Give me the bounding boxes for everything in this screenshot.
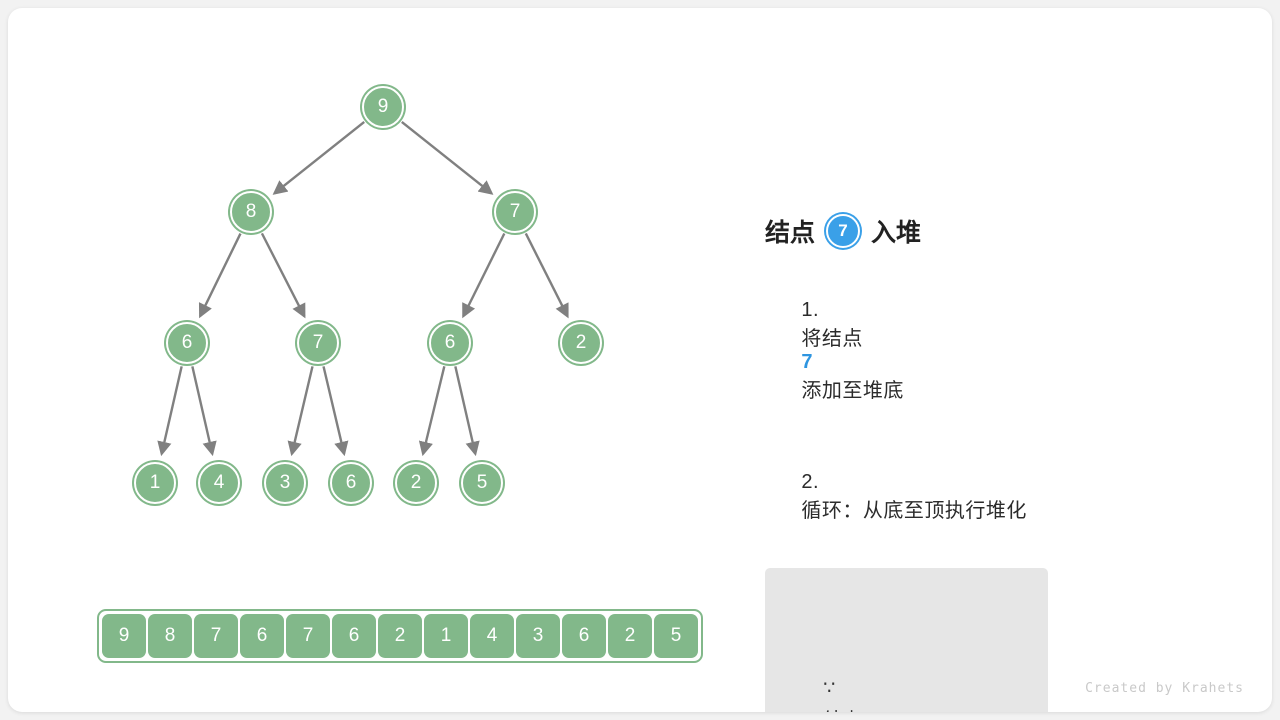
tree-node: 3 bbox=[264, 462, 306, 504]
tree-edge bbox=[162, 366, 182, 453]
tree-node: 7 bbox=[494, 191, 536, 233]
tree-edge bbox=[402, 122, 492, 193]
step-2-text: 循环：从底至顶执行堆化 bbox=[801, 500, 1027, 522]
step-1-text-before: 将结点 bbox=[801, 328, 863, 350]
title-node-badge: 7 bbox=[826, 214, 860, 248]
step-1: 1. 将结点 7 添加至堆底 bbox=[765, 276, 1165, 426]
tree-edge bbox=[324, 366, 345, 453]
step-2-number: 2. bbox=[801, 471, 819, 493]
tree-node: 5 bbox=[461, 462, 503, 504]
explanation-panel: 结点 7 入堆 1. 将结点 7 添加至堆底 2. 循环：从底至顶执行堆化 ∵ … bbox=[765, 208, 1165, 712]
tree-edge bbox=[463, 233, 504, 316]
tree-node: 6 bbox=[429, 322, 471, 364]
tree-edge bbox=[262, 233, 304, 316]
tree-node: 6 bbox=[166, 322, 208, 364]
tree-node: 1 bbox=[134, 462, 176, 504]
title-prefix: 结点 bbox=[765, 213, 815, 249]
tree-edge bbox=[192, 366, 212, 453]
tree-node: 7 bbox=[297, 322, 339, 364]
heap-tree-diagram: 9876762143625 bbox=[8, 8, 728, 588]
array-cell: 3 bbox=[516, 614, 560, 658]
heap-array: 9876762143625 bbox=[97, 609, 703, 663]
tree-node: 2 bbox=[560, 322, 602, 364]
tree-edge bbox=[292, 366, 313, 453]
array-cell: 4 bbox=[470, 614, 514, 658]
array-cell: 2 bbox=[378, 614, 422, 658]
reason-node-a-label: 结点 bbox=[823, 710, 861, 712]
panel-title: 结点 7 入堆 bbox=[765, 208, 1165, 254]
tree-edge bbox=[200, 234, 240, 316]
tree-edge bbox=[526, 233, 568, 316]
step-1-highlight-value: 7 bbox=[801, 351, 813, 373]
tree-node: 6 bbox=[330, 462, 372, 504]
array-cell: 2 bbox=[608, 614, 652, 658]
tree-node: 2 bbox=[395, 462, 437, 504]
array-cell: 6 bbox=[332, 614, 376, 658]
credit-label: Created by Krahets bbox=[1085, 681, 1244, 696]
array-cell: 8 bbox=[148, 614, 192, 658]
tree-node: 9 bbox=[362, 86, 404, 128]
tree-edge bbox=[423, 366, 444, 454]
array-cell: 7 bbox=[194, 614, 238, 658]
title-suffix: 入堆 bbox=[871, 213, 921, 249]
array-cell: 7 bbox=[286, 614, 330, 658]
array-cell: 6 bbox=[562, 614, 606, 658]
tree-node: 8 bbox=[230, 191, 272, 233]
array-cell: 6 bbox=[240, 614, 284, 658]
step-2: 2. 循环：从底至顶执行堆化 bbox=[765, 448, 1165, 546]
array-cell: 9 bbox=[102, 614, 146, 658]
reasoning-line-1: ∵ 结点 9 > 结点 7 bbox=[781, 641, 1032, 712]
tree-node: 4 bbox=[198, 462, 240, 504]
array-cell: 1 bbox=[424, 614, 468, 658]
slide-card: 9876762143625 9876762143625 结点 7 入堆 1. 将… bbox=[8, 8, 1272, 712]
reasoning-box: ∵ 结点 9 > 结点 7 ∴ 无需继续堆化，提前结束 bbox=[765, 568, 1048, 712]
step-1-text-after: 添加至堆底 bbox=[801, 380, 904, 402]
step-1-number: 1. bbox=[801, 299, 819, 321]
tree-edge bbox=[455, 366, 475, 453]
because-symbol: ∵ bbox=[823, 678, 835, 699]
array-cell: 5 bbox=[654, 614, 698, 658]
tree-edge bbox=[274, 122, 364, 193]
